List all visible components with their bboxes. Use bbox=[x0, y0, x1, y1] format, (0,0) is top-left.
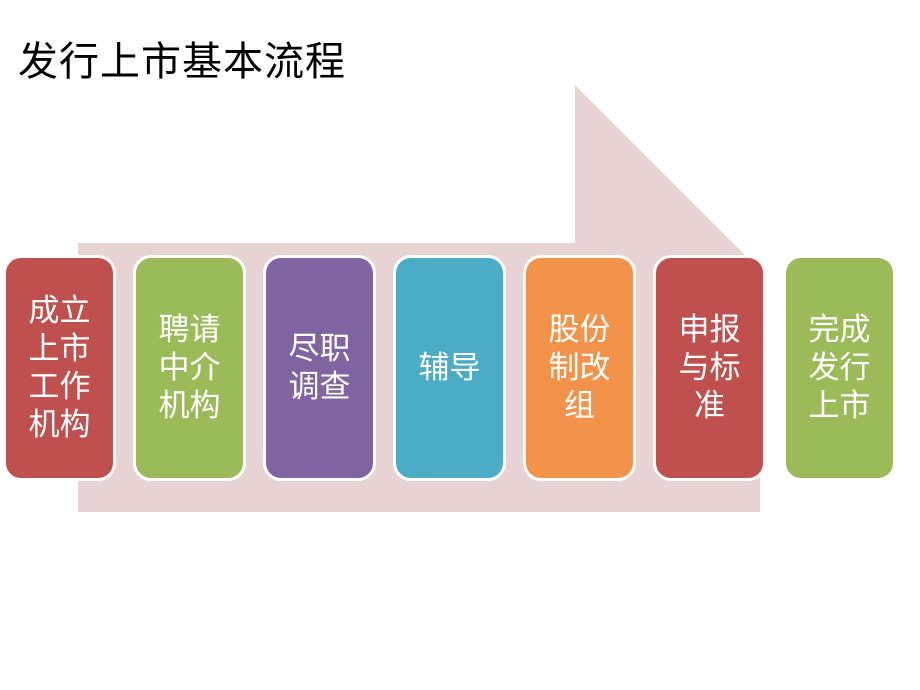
process-step-1[interactable]: 成立上市工作机构 bbox=[3, 255, 116, 481]
process-step-4-label: 辅导 bbox=[412, 349, 488, 387]
process-step-7[interactable]: 完成发行上市 bbox=[783, 255, 896, 481]
process-step-7-label: 完成发行上市 bbox=[802, 311, 878, 425]
process-step-2-label: 聘请中介机构 bbox=[152, 311, 228, 425]
page-title: 发行上市基本流程 bbox=[18, 36, 346, 88]
process-step-3[interactable]: 尽职调查 bbox=[263, 255, 376, 481]
process-step-3-label: 尽职调查 bbox=[282, 330, 358, 406]
process-step-6[interactable]: 申报与标准 bbox=[653, 255, 766, 481]
process-steps-row: 成立上市工作机构 聘请中介机构 尽职调查 辅导 股份制改组 申报与标准 完成发行… bbox=[0, 255, 920, 481]
process-step-2[interactable]: 聘请中介机构 bbox=[133, 255, 246, 481]
process-step-4[interactable]: 辅导 bbox=[393, 255, 506, 481]
process-step-6-label: 申报与标准 bbox=[672, 311, 748, 425]
slide-canvas: 发行上市基本流程 成立上市工作机构 聘请中介机构 尽职调查 辅导 股份制改组 申… bbox=[0, 0, 920, 690]
process-step-5[interactable]: 股份制改组 bbox=[523, 255, 636, 481]
process-step-1-label: 成立上市工作机构 bbox=[22, 292, 98, 444]
process-step-5-label: 股份制改组 bbox=[542, 311, 618, 425]
